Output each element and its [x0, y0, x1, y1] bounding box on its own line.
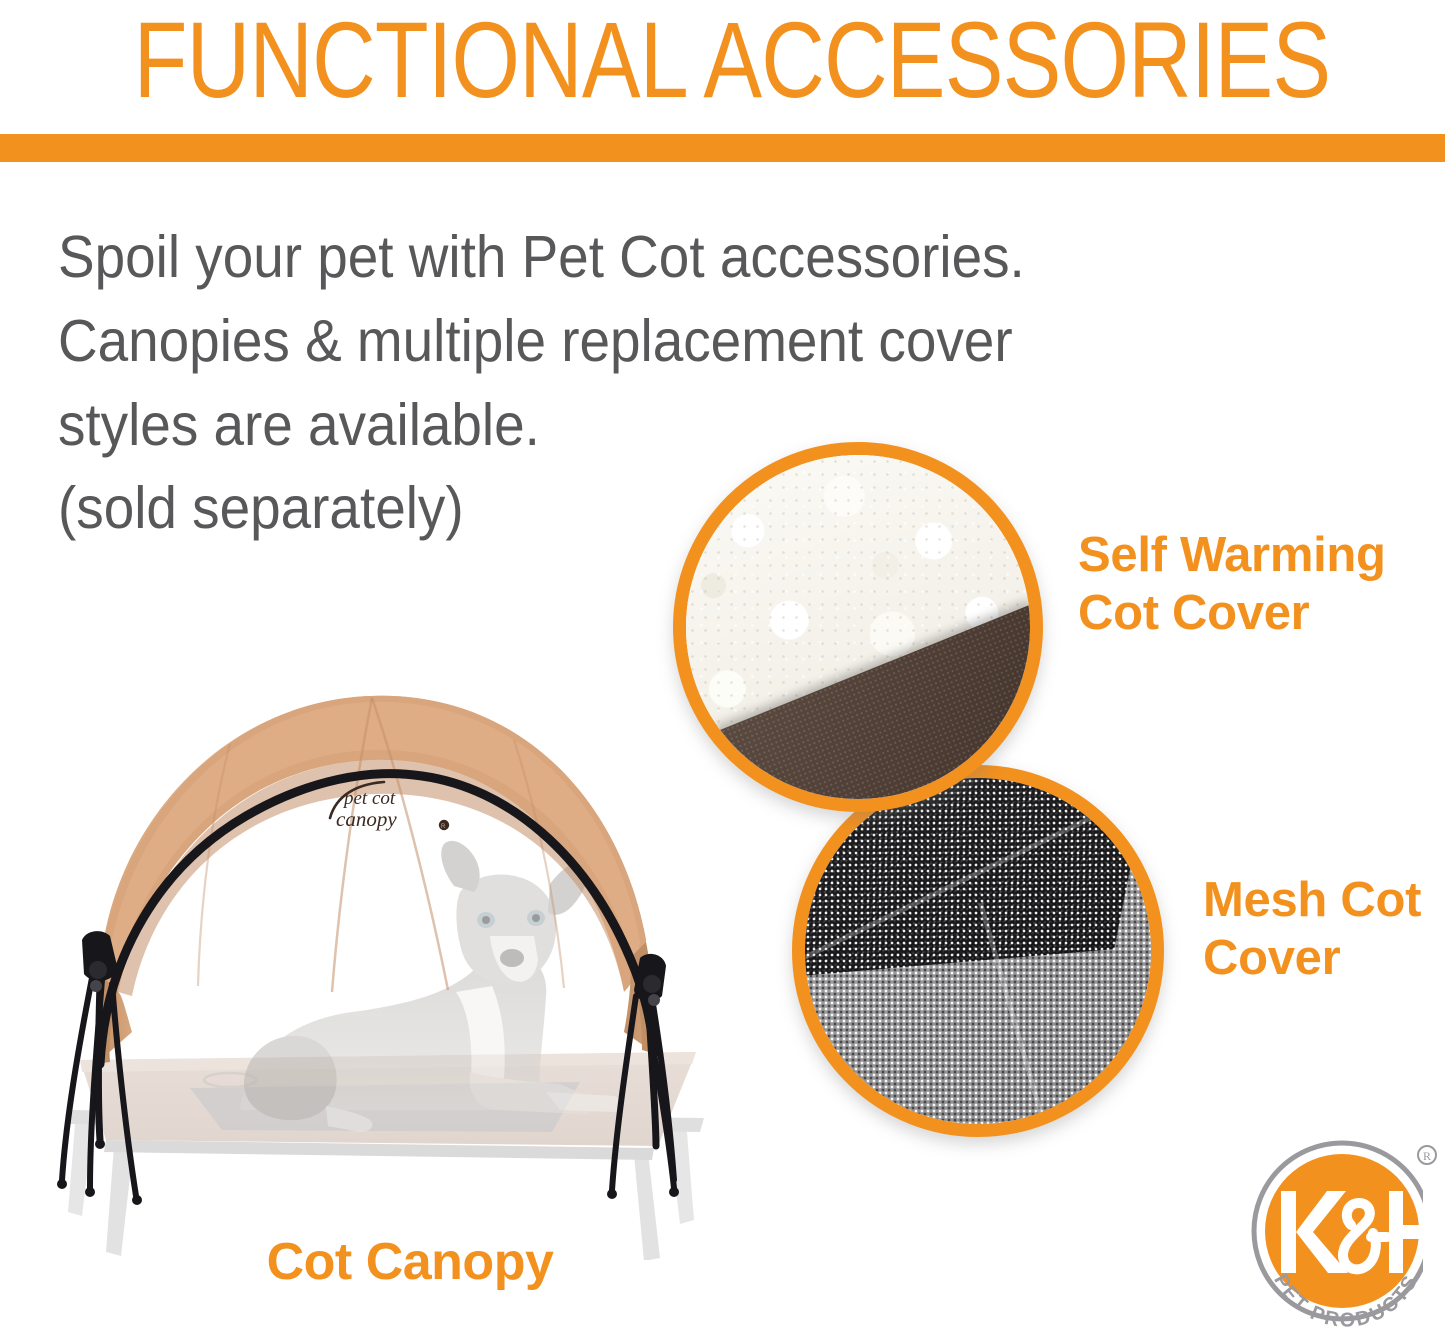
registered-trademark-icon: R [1423, 1149, 1431, 1163]
intro-line-1: Spoil your pet with Pet Cot accessories. [58, 216, 1202, 300]
swatch-mesh-cot-cover [792, 765, 1164, 1137]
page-title: FUNCTIONAL ACCESSORIES [134, 0, 1312, 126]
intro-paragraph: Spoil your pet with Pet Cot accessories.… [58, 216, 1202, 551]
label-self-warming-line-2: Cot Cover [1078, 585, 1438, 643]
caption-cot-canopy: Cot Canopy [120, 1232, 700, 1292]
frame-anchor-knobs [89, 961, 661, 1006]
label-mesh-cot-cover: Mesh Cot Cover [1203, 872, 1443, 988]
product-image-cot-canopy [40, 640, 740, 1260]
intro-line-2: Canopies & multiple replacement cover [58, 300, 1202, 384]
header-divider-rule [0, 134, 1445, 162]
label-mesh-line-2: Cover [1203, 930, 1443, 988]
intro-line-3: styles are available. [58, 384, 1202, 468]
intro-line-4: (sold separately) [58, 467, 1202, 551]
swatch-self-warming-cot-cover [673, 442, 1043, 812]
mesh-fabric-photo [805, 778, 1151, 1124]
label-mesh-line-1: Mesh Cot [1203, 872, 1443, 930]
kh-pet-products-logo: R PET PRODUCTS [1247, 1133, 1445, 1333]
label-self-warming-cot-cover: Self Warming Cot Cover [1078, 527, 1438, 643]
self-warming-fabric-photo [686, 455, 1030, 799]
mesh-weave-texture [805, 778, 1151, 1124]
label-self-warming-line-1: Self Warming [1078, 527, 1438, 585]
